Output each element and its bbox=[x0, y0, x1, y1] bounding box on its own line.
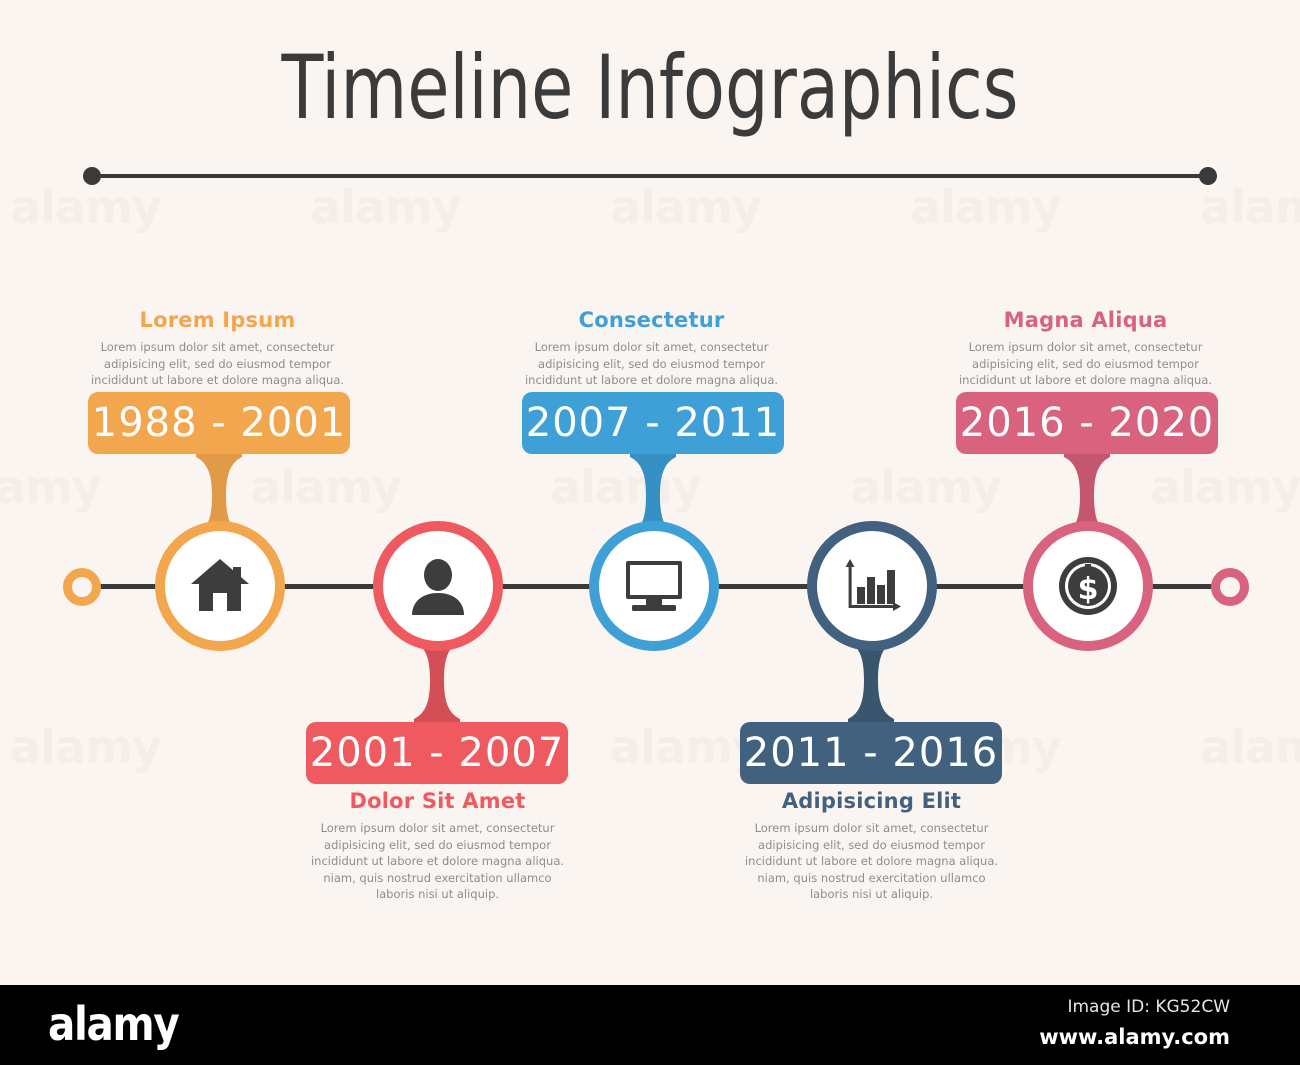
image-id-label: Image ID: KG52CW bbox=[1067, 997, 1230, 1017]
dollar-coin-icon: $ bbox=[1057, 555, 1119, 617]
timeline-start-cap bbox=[63, 568, 101, 606]
timeline-node-3[interactable] bbox=[589, 521, 719, 651]
timeline-body-4: Lorem ipsum dolor sit amet, consectetur … bbox=[739, 820, 1004, 903]
timeline-heading-4: Adipisicing Elit bbox=[739, 789, 1004, 813]
watermark-tile: alamy bbox=[1200, 720, 1300, 774]
monitor-icon bbox=[622, 559, 686, 613]
timeline-year-label-1: 1988 - 2001 bbox=[92, 400, 346, 446]
page-title: Timeline Infographics bbox=[143, 36, 1157, 139]
watermark-tile: alamy bbox=[850, 460, 1001, 514]
watermark-tile: alamy bbox=[1150, 460, 1300, 514]
watermark-tile: alamy bbox=[10, 720, 161, 774]
timeline-year-box-2[interactable]: 2001 - 2007 bbox=[306, 722, 568, 784]
watermark-tile: alamy bbox=[550, 460, 701, 514]
watermark-tile: alamy bbox=[910, 180, 1061, 234]
watermark-tile: alamy bbox=[610, 180, 761, 234]
timeline-node-1[interactable] bbox=[155, 521, 285, 651]
timeline-node-4[interactable] bbox=[807, 521, 937, 651]
website-label: www.alamy.com bbox=[1039, 1025, 1230, 1049]
timeline-heading-5: Magna Aliqua bbox=[953, 308, 1218, 332]
title-divider-line bbox=[88, 174, 1210, 178]
alamy-footer-bar: alamy Image ID: KG52CW www.alamy.com bbox=[0, 985, 1300, 1065]
timeline-heading-1: Lorem Ipsum bbox=[85, 308, 350, 332]
timeline-year-label-4: 2011 - 2016 bbox=[744, 730, 998, 776]
timeline-node-5[interactable]: $ bbox=[1023, 521, 1153, 651]
timeline-year-label-3: 2007 - 2011 bbox=[526, 400, 780, 446]
watermark-tile: alamy bbox=[0, 460, 101, 514]
timeline-year-box-1[interactable]: 1988 - 2001 bbox=[88, 392, 350, 454]
bar-chart-icon bbox=[841, 557, 903, 615]
alamy-logo: alamy bbox=[48, 997, 178, 1051]
watermark-tile: alamy bbox=[250, 460, 401, 514]
timeline-text-block-4: Adipisicing Elit Lorem ipsum dolor sit a… bbox=[739, 789, 1004, 903]
watermark-tile: alamy bbox=[10, 180, 161, 234]
home-icon bbox=[189, 557, 251, 615]
svg-text:$: $ bbox=[1078, 572, 1099, 607]
timeline-text-block-2: Dolor Sit Amet Lorem ipsum dolor sit ame… bbox=[305, 789, 570, 903]
timeline-heading-3: Consectetur bbox=[519, 308, 784, 332]
watermark-tile: alamy bbox=[610, 720, 761, 774]
timeline-year-box-5[interactable]: 2016 - 2020 bbox=[956, 392, 1218, 454]
timeline-body-2: Lorem ipsum dolor sit amet, consectetur … bbox=[305, 820, 570, 903]
timeline-year-label-2: 2001 - 2007 bbox=[310, 730, 564, 776]
watermark-tile: alamy bbox=[310, 180, 461, 234]
timeline-year-box-3[interactable]: 2007 - 2011 bbox=[522, 392, 784, 454]
timeline-end-cap bbox=[1211, 568, 1249, 606]
timeline-heading-2: Dolor Sit Amet bbox=[305, 789, 570, 813]
user-icon bbox=[410, 557, 466, 615]
timeline-year-label-5: 2016 - 2020 bbox=[960, 400, 1214, 446]
watermark-tile: alamy bbox=[1200, 180, 1300, 234]
timeline-year-box-4[interactable]: 2011 - 2016 bbox=[740, 722, 1002, 784]
timeline-node-2[interactable] bbox=[373, 521, 503, 651]
title-divider-dot-right bbox=[1199, 167, 1217, 185]
title-divider-dot-left bbox=[83, 167, 101, 185]
